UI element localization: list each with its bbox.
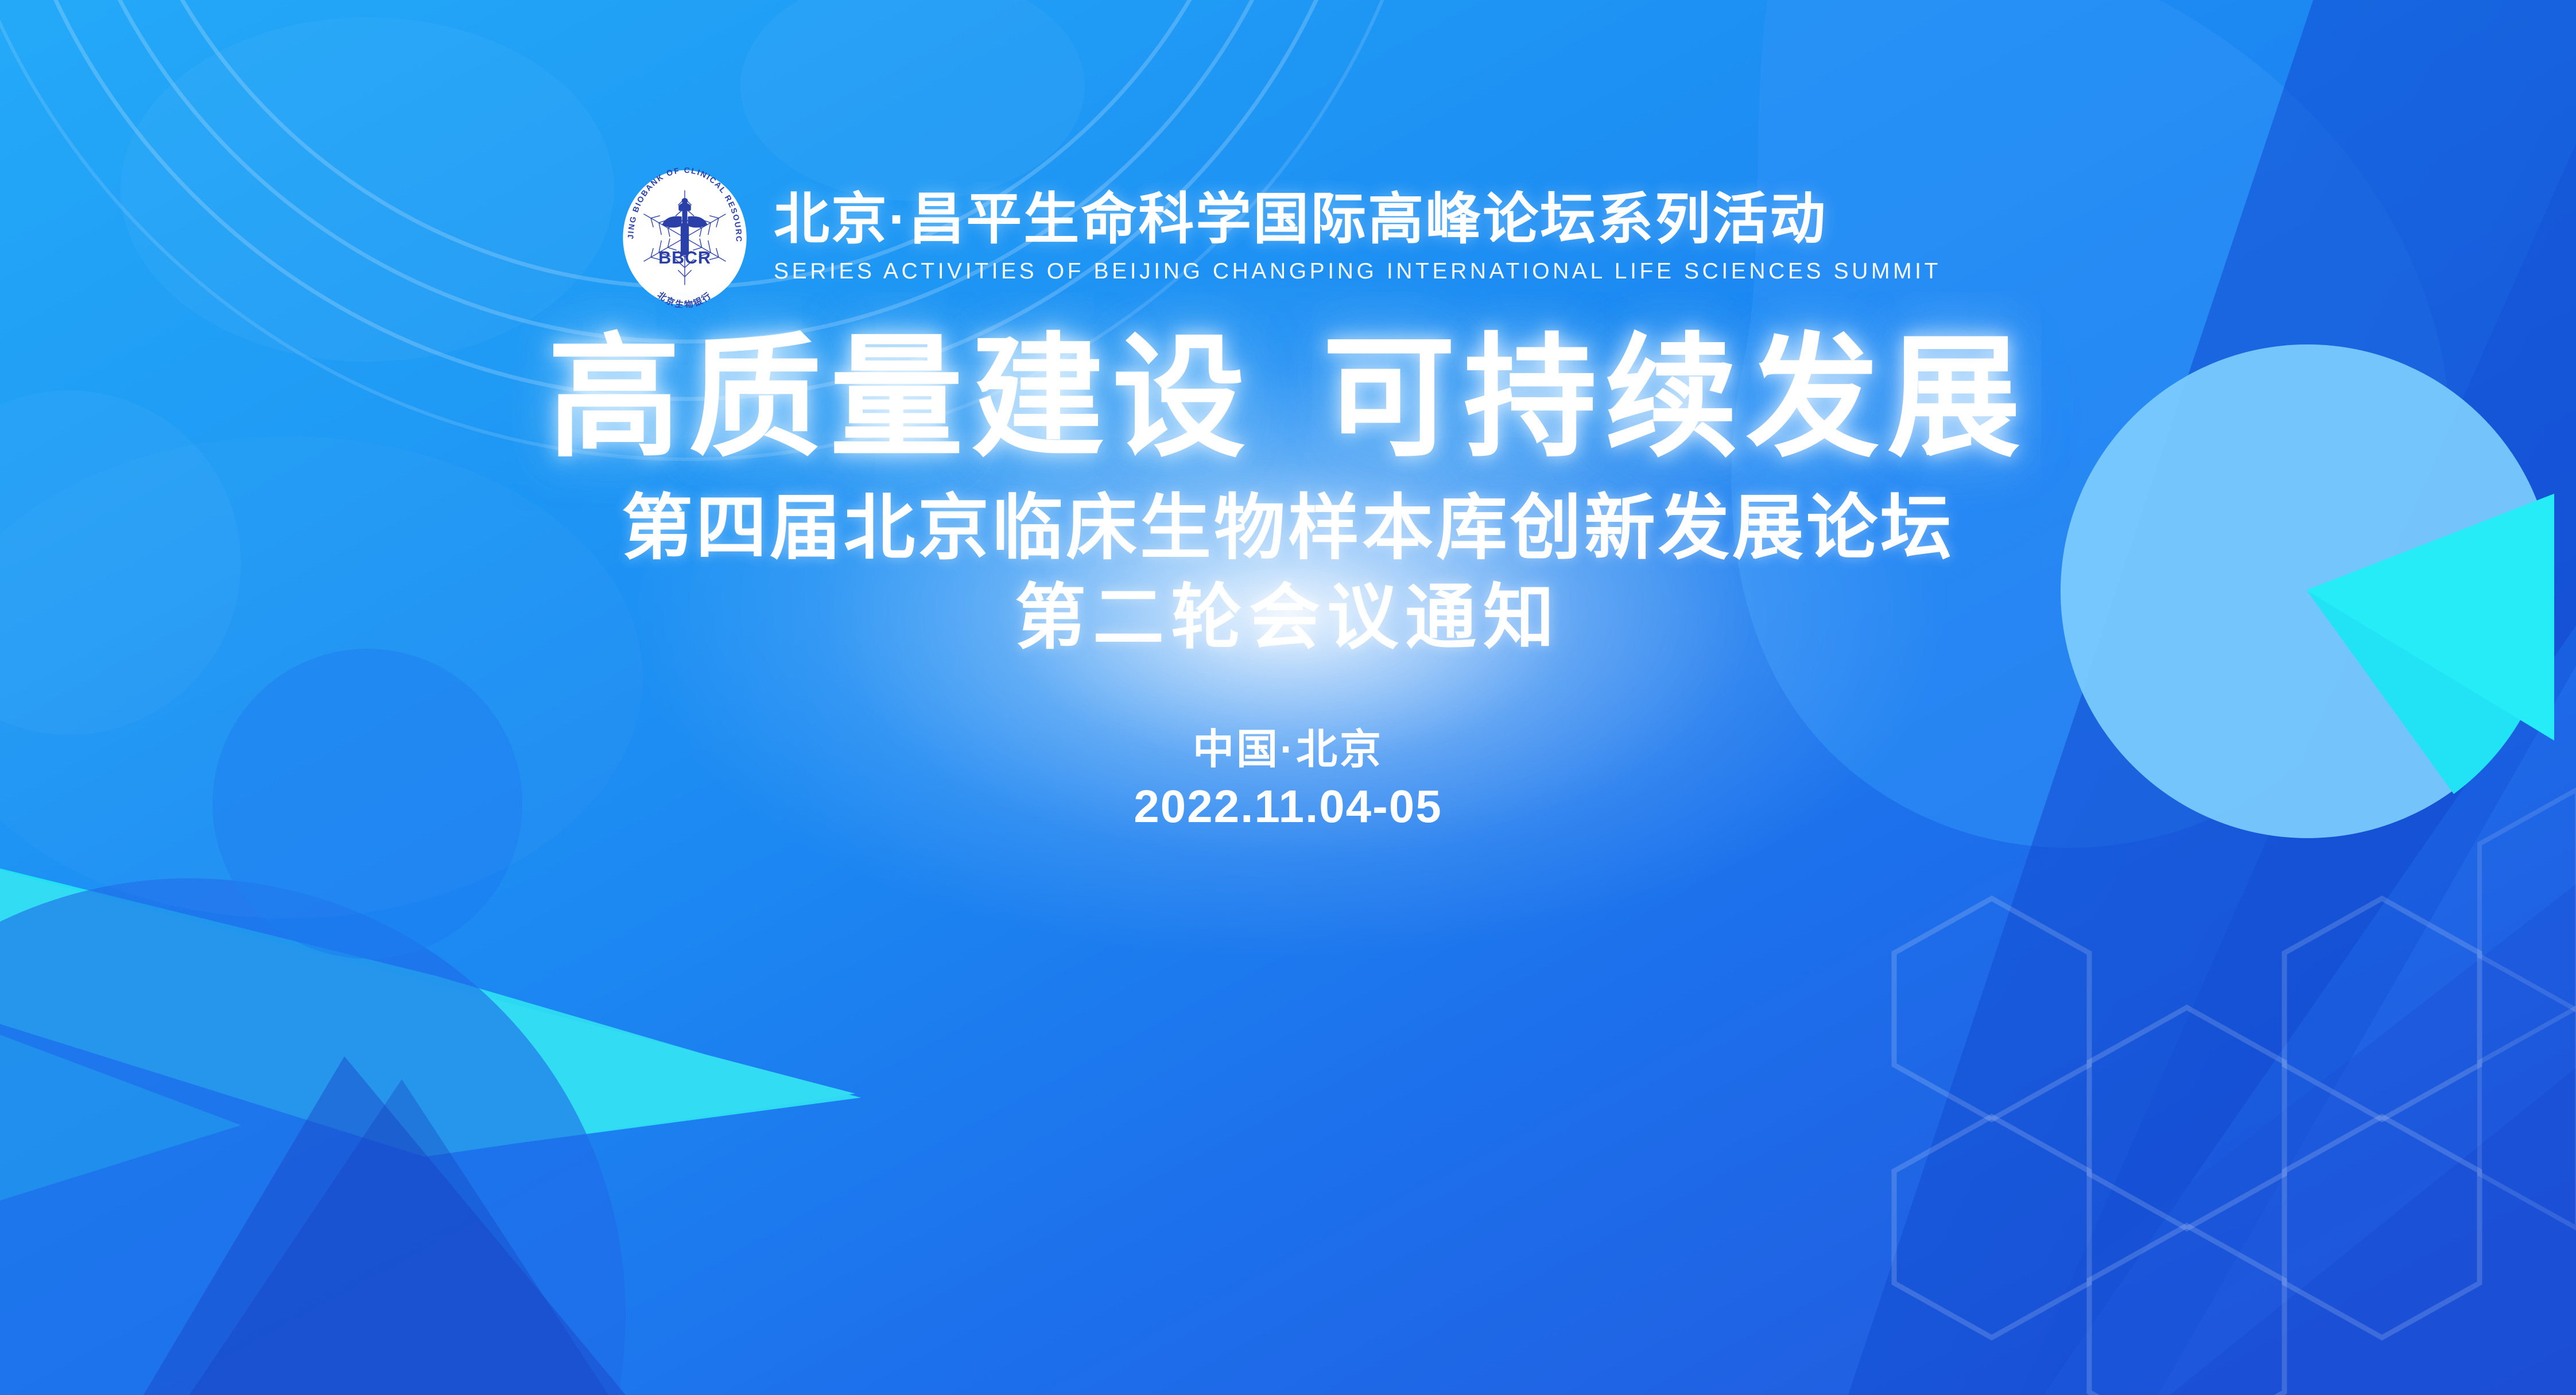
conference-banner: BBCR BEIJING BIOBANK OF CLINICAL RESOURC… — [0, 0, 2576, 1395]
bbcr-seal-logo: BBCR BEIJING BIOBANK OF CLINICAL RESOURC… — [618, 168, 752, 308]
event-date: 2022.11.04-05 — [1134, 781, 1442, 832]
event-location: 中国·北京 — [1193, 727, 1383, 773]
summit-title-cn: 北京·昌平生命科学国际高峰论坛系列活动 — [774, 190, 1941, 249]
headline-part-1: 高质量建设 — [548, 324, 1254, 472]
forum-subtitle-line-2: 第二轮会议通知 — [1015, 580, 1561, 657]
bbcr-logo-svg: BBCR BEIJING BIOBANK OF CLINICAL RESOURC… — [618, 168, 752, 308]
logo-acronym: BBCR — [658, 248, 711, 268]
header-lockup: BBCR BEIJING BIOBANK OF CLINICAL RESOURC… — [618, 168, 1941, 308]
main-headline: 高质量建设可持续发展 — [548, 332, 2028, 465]
summit-name-block: 北京·昌平生命科学国际高峰论坛系列活动 SERIES ACTIVITIES OF… — [774, 190, 1941, 285]
banner-content: BBCR BEIJING BIOBANK OF CLINICAL RESOURC… — [0, 0, 2576, 1395]
forum-subtitle-line-1: 第四届北京临床生物样本库创新发展论坛 — [622, 490, 1954, 567]
summit-title-en: SERIES ACTIVITIES OF BEIJING CHANGPING I… — [774, 258, 1941, 285]
headline-part-2: 可持续发展 — [1322, 324, 2028, 472]
